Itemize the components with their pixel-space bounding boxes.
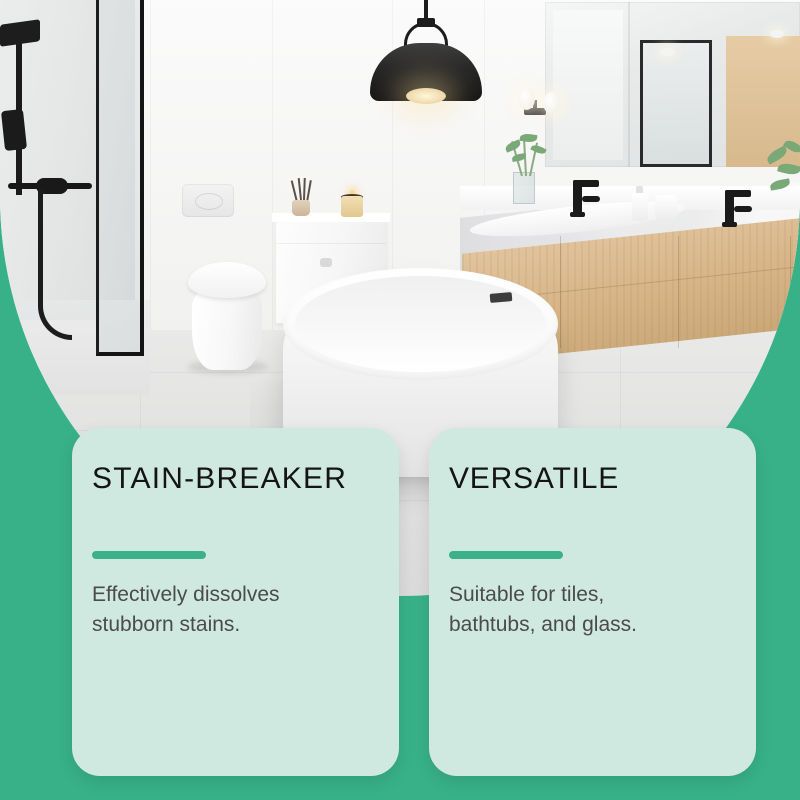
bathtub-overflow-cover — [490, 292, 513, 303]
wall-tile-seam — [272, 0, 273, 330]
cabinet-knob — [320, 258, 332, 267]
mirror-seam — [628, 2, 630, 167]
feature-card-divider — [449, 551, 563, 559]
candle — [341, 196, 363, 217]
shower-glass-panel — [96, 0, 144, 356]
bathtub-interior — [295, 276, 546, 372]
feature-card-description: Suitable for tiles, bathtubs, and glass. — [449, 580, 732, 640]
wall-tile-seam — [150, 0, 151, 330]
soap-dispenser — [632, 193, 648, 221]
mirrored-wall-reflection — [553, 10, 623, 160]
feature-card-title: STAIN-BREAKER — [92, 462, 375, 495]
mirrored-shower-reflection — [640, 40, 712, 167]
wall-sconce-globe — [543, 92, 560, 114]
toilet-seat — [188, 262, 266, 298]
wall-sconce-globe — [518, 88, 535, 110]
feature-card-description: Effectively dissolves stubborn stains. — [92, 580, 375, 640]
vanity-cup — [655, 195, 677, 221]
pendant-lamp-bulb — [406, 88, 446, 104]
faucet-spout — [725, 190, 751, 197]
faucet-lever — [582, 196, 600, 202]
reed-diffuser-jar — [292, 200, 310, 216]
feature-card-list: STAIN-BREAKER Effectively dissolves stub… — [72, 428, 756, 776]
feature-card-divider — [92, 551, 206, 559]
cabinet-drawer-seam — [276, 243, 386, 244]
flush-plate — [182, 184, 234, 217]
cabinet-top — [272, 213, 390, 222]
vanity-door-seam — [678, 236, 679, 348]
faucet-spout — [573, 180, 599, 187]
feature-poster: STAIN-BREAKER Effectively dissolves stub… — [0, 0, 800, 800]
feature-card-versatile[interactable]: VERSATILE Suitable for tiles, bathtubs, … — [429, 428, 756, 776]
feature-card-stain-breaker[interactable]: STAIN-BREAKER Effectively dissolves stub… — [72, 428, 399, 776]
ceiling-downlight — [770, 30, 784, 38]
shower-hose — [38, 190, 72, 340]
glass-vase — [513, 172, 535, 204]
vanity-door-seam — [560, 236, 561, 348]
feature-card-title: VERSATILE — [449, 462, 732, 495]
ceiling-downlight — [660, 48, 674, 56]
handheld-shower — [1, 109, 27, 151]
faucet-lever — [734, 206, 752, 212]
